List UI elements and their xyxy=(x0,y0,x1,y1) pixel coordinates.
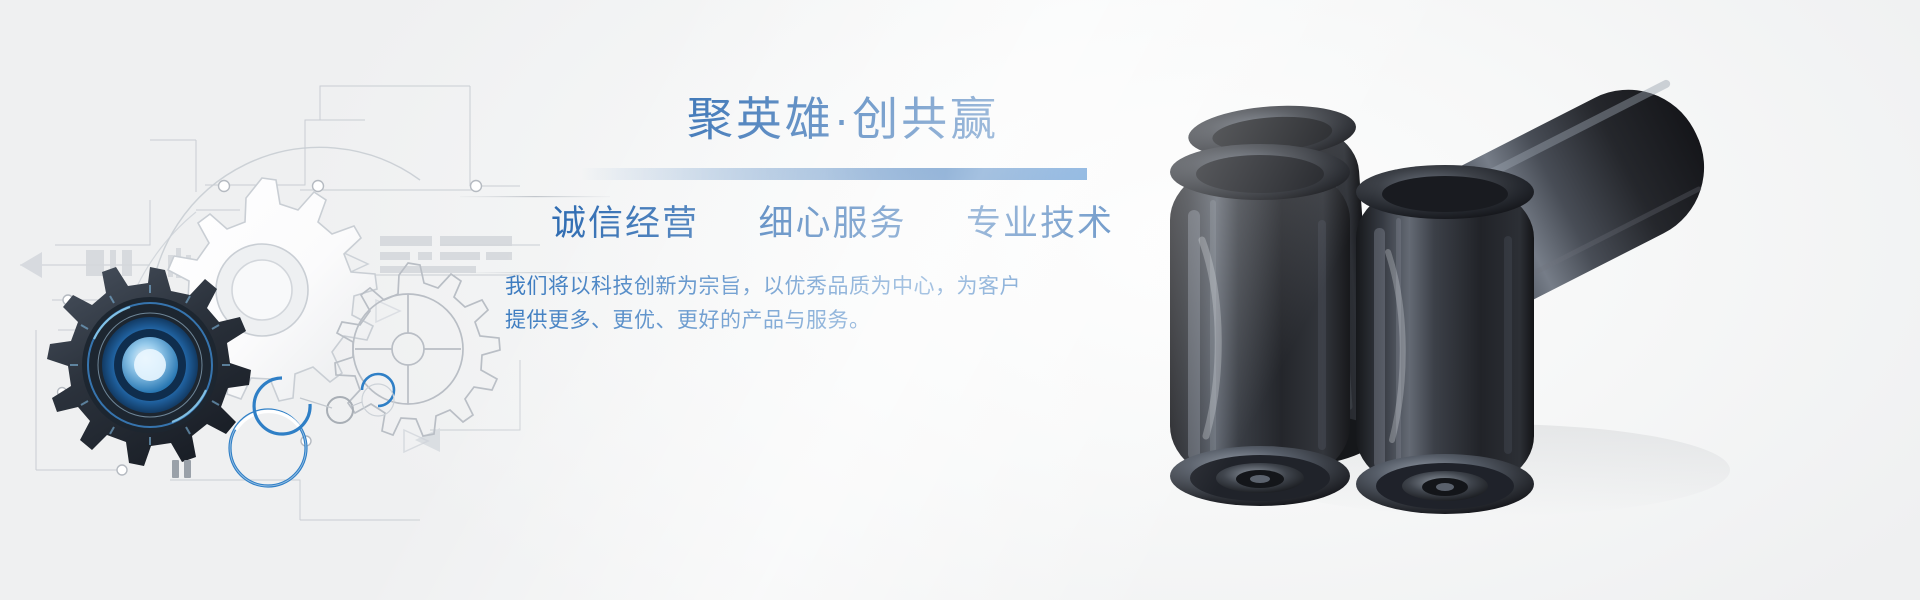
banner-subheadline: 诚信经营 细心服务 专业技术 xyxy=(505,204,1105,244)
subheadline-part-1: 诚信经营 xyxy=(551,204,699,244)
roller-front-right xyxy=(1356,165,1534,514)
banner-headline: 聚英雄·创共赢 xyxy=(505,96,1105,142)
body-line-1: 我们将以科技创新为宗旨，以优秀品质为中心，为客户 xyxy=(505,270,1053,304)
banner-copy: 聚英雄·创共赢 诚信经营 细心服务 专业技术 我们将以科技创新为宗旨，以优秀品质… xyxy=(505,96,1105,338)
roller-front-left xyxy=(1170,144,1350,506)
subheadline-part-2: 细心服务 xyxy=(758,204,906,244)
hero-banner: 聚英雄·创共赢 诚信经营 细心服务 专业技术 我们将以科技创新为宗旨，以优秀品质… xyxy=(0,0,1920,600)
pause-mark xyxy=(172,460,191,478)
blue-circle-rings xyxy=(230,374,394,486)
banner-body-text: 我们将以科技创新为宗旨，以优秀品质为中心，为客户 提供更多、更优、更好的产品与服… xyxy=(505,270,1053,338)
subheadline-part-3: 专业技术 xyxy=(966,204,1114,244)
accent-divider xyxy=(581,168,1087,180)
product-photo-rollers xyxy=(1160,0,1920,600)
body-line-2: 提供更多、更优、更好的产品与服务。 xyxy=(505,304,1053,338)
